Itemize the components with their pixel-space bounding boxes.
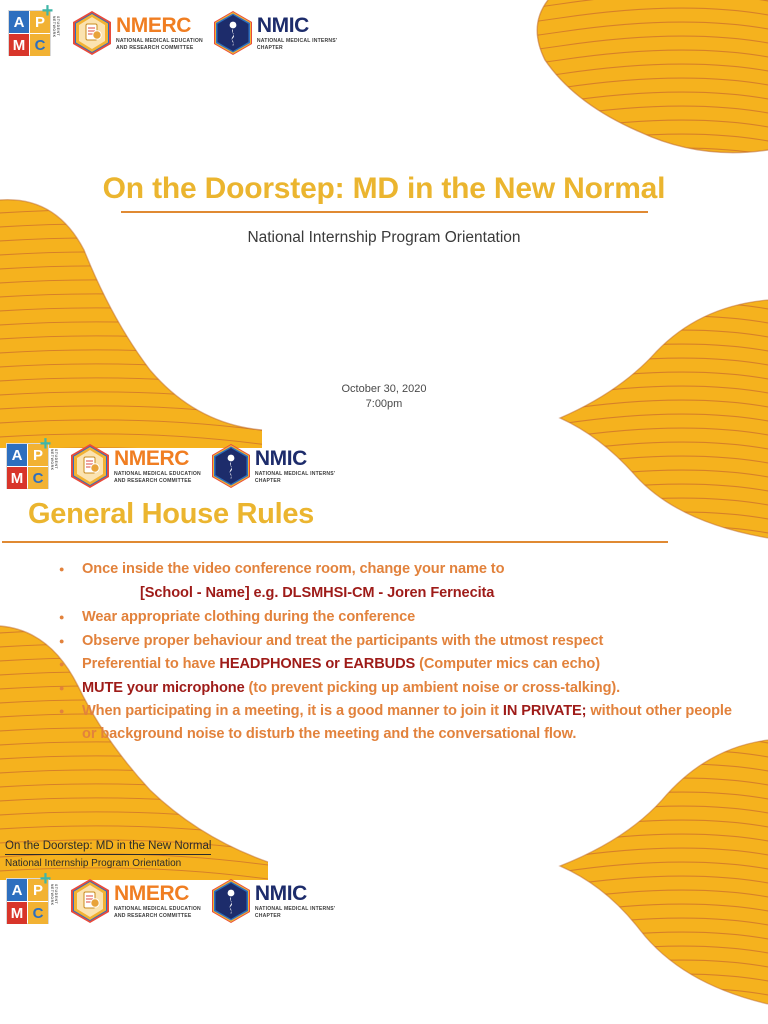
nmic-wordmark: NMIC NATIONAL MEDICAL INTERNS' CHAPTER xyxy=(255,883,335,920)
nmerc-subtitle-line2: AND RESEARCH COMMITTEE xyxy=(114,913,201,920)
caduceus-badge-icon xyxy=(212,10,254,56)
rule-text-1: Once inside the video conference room, c… xyxy=(82,561,504,577)
nmerc-logo: NMERC NATIONAL MEDICAL EDUCATION AND RES… xyxy=(69,443,201,489)
nmic-logo: NMIC NATIONAL MEDICAL INTERNS' CHAPTER xyxy=(212,10,337,56)
nmerc-wordmark: NMERC NATIONAL MEDICAL EDUCATION AND RES… xyxy=(114,448,201,485)
nmerc-logo: NMERC NATIONAL MEDICAL EDUCATION AND RES… xyxy=(71,10,203,56)
apmc-letter-a: A xyxy=(7,879,27,901)
rule-text-1-example: [School - Name] e.g. DLSMHSI-CM - Joren … xyxy=(140,585,494,601)
rule-text-6-emphasis: IN PRIVATE; xyxy=(503,703,587,719)
nmerc-subtitle-line1: NATIONAL MEDICAL EDUCATION xyxy=(114,906,201,913)
apmc-letter-m: M xyxy=(7,902,27,924)
apmc-logo: A P M C + STUDENT NETWORK xyxy=(8,10,62,56)
apmc-letter-a: A xyxy=(9,11,29,33)
caduceus-badge-icon xyxy=(210,443,252,489)
section-divider xyxy=(2,541,668,543)
list-item: Wear appropriate clothing during the con… xyxy=(56,606,750,629)
rule-text-4-post: (Computer mics can echo) xyxy=(415,656,600,672)
nmerc-subtitle: NATIONAL MEDICAL EDUCATION AND RESEARCH … xyxy=(116,38,203,52)
page-title: On the Doorstep: MD in the New Normal xyxy=(0,172,768,206)
nmerc-word: NMERC xyxy=(114,448,201,469)
list-item: Preferential to have HEADPHONES or EARBU… xyxy=(56,653,750,676)
footer-subtitle: National Internship Program Orientation xyxy=(5,857,211,871)
footer-title: On the Doorstep: MD in the New Normal xyxy=(5,839,211,855)
apmc-letter-c: C xyxy=(28,902,48,924)
apmc-side-text: STUDENT NETWORK xyxy=(52,16,60,54)
rule-text-2: Wear appropriate clothing during the con… xyxy=(82,609,415,625)
nmerc-word: NMERC xyxy=(116,15,203,36)
book-badge-icon xyxy=(69,443,111,489)
apmc-letter-c: C xyxy=(30,34,50,56)
apmc-letter-c: C xyxy=(28,467,48,489)
nmic-subtitle-line2: CHAPTER xyxy=(255,478,335,485)
page-subtitle: National Internship Program Orientation xyxy=(0,229,768,247)
list-item-continuation: [School - Name] e.g. DLSMHSI-CM - Joren … xyxy=(56,582,750,605)
event-datetime: October 30, 2020 7:00pm xyxy=(0,382,768,412)
apmc-letter-a: A xyxy=(7,444,27,466)
footer-caption: On the Doorstep: MD in the New Normal Na… xyxy=(5,836,211,871)
rule-text-6-pre: When participating in a meeting, it is a… xyxy=(82,703,503,719)
nmic-wordmark: NMIC NATIONAL MEDICAL INTERNS' CHAPTER xyxy=(255,448,335,485)
book-badge-icon xyxy=(69,878,111,924)
nmerc-word: NMERC xyxy=(114,883,201,904)
nmic-subtitle: NATIONAL MEDICAL INTERNS' CHAPTER xyxy=(257,38,337,52)
apmc-letter-m: M xyxy=(7,467,27,489)
nmic-subtitle-line1: NATIONAL MEDICAL INTERNS' xyxy=(255,471,335,478)
nmic-wordmark: NMIC NATIONAL MEDICAL INTERNS' CHAPTER xyxy=(257,15,337,52)
nmerc-wordmark: NMERC NATIONAL MEDICAL EDUCATION AND RES… xyxy=(116,15,203,52)
list-item: Observe proper behaviour and treat the p… xyxy=(56,630,750,653)
nmic-logo: NMIC NATIONAL MEDICAL INTERNS' CHAPTER xyxy=(210,443,335,489)
nmic-word: NMIC xyxy=(255,883,335,904)
book-badge-icon xyxy=(71,10,113,56)
wave-right-lower xyxy=(560,740,768,1004)
apmc-logo: A P M C + STUDENT NETWORK xyxy=(6,878,60,924)
wave-top-right xyxy=(537,0,768,153)
caduceus-badge-icon xyxy=(210,878,252,924)
nmic-word: NMIC xyxy=(255,448,335,469)
rule-text-5-post: (to prevent picking up ambient noise or … xyxy=(245,680,621,696)
slide-page: A P M C + STUDENT NETWORK xyxy=(0,0,768,1024)
rule-text-5-emphasis: MUTE your microphone xyxy=(82,680,245,696)
nmerc-logo: NMERC NATIONAL MEDICAL EDUCATION AND RES… xyxy=(69,878,201,924)
apmc-letter-m: M xyxy=(9,34,29,56)
nmerc-subtitle: NATIONAL MEDICAL EDUCATION AND RESEARCH … xyxy=(114,471,201,485)
rule-text-3: Observe proper behaviour and treat the p… xyxy=(82,633,603,649)
event-time: 7:00pm xyxy=(0,397,768,412)
logo-strip-top: A P M C + STUDENT NETWORK xyxy=(8,10,337,56)
rule-text-4-pre: Preferential to have xyxy=(82,656,219,672)
nmerc-wordmark: NMERC NATIONAL MEDICAL EDUCATION AND RES… xyxy=(114,883,201,920)
logo-strip-bottom: A P M C + STUDENT NETWORK xyxy=(6,878,335,924)
nmic-subtitle-line2: CHAPTER xyxy=(257,45,337,52)
nmic-subtitle: NATIONAL MEDICAL INTERNS' CHAPTER xyxy=(255,906,335,920)
list-item: When participating in a meeting, it is a… xyxy=(56,700,750,745)
apmc-side-text: STUDENT NETWORK xyxy=(50,449,58,487)
list-item: MUTE your microphone (to prevent picking… xyxy=(56,677,750,700)
rule-text-4-emphasis: HEADPHONES or EARBUDS xyxy=(219,656,415,672)
nmic-subtitle-line1: NATIONAL MEDICAL INTERNS' xyxy=(255,906,335,913)
apmc-logo: A P M C + STUDENT NETWORK xyxy=(6,443,60,489)
nmerc-subtitle-line2: AND RESEARCH COMMITTEE xyxy=(116,45,203,52)
nmic-word: NMIC xyxy=(257,15,337,36)
list-item: Once inside the video conference room, c… xyxy=(56,558,750,581)
nmic-subtitle: NATIONAL MEDICAL INTERNS' CHAPTER xyxy=(255,471,335,485)
nmic-subtitle-line1: NATIONAL MEDICAL INTERNS' xyxy=(257,38,337,45)
logo-strip-middle: A P M C + STUDENT NETWORK xyxy=(6,443,335,489)
title-divider xyxy=(121,211,648,213)
nmerc-subtitle-line1: NATIONAL MEDICAL EDUCATION xyxy=(116,38,203,45)
apmc-side-text: STUDENT NETWORK xyxy=(50,884,58,922)
nmerc-subtitle-line2: AND RESEARCH COMMITTEE xyxy=(114,478,201,485)
event-date: October 30, 2020 xyxy=(0,382,768,397)
wave-right-middle xyxy=(560,300,768,538)
nmerc-subtitle-line1: NATIONAL MEDICAL EDUCATION xyxy=(114,471,201,478)
nmic-subtitle-line2: CHAPTER xyxy=(255,913,335,920)
house-rules-list: Once inside the video conference room, c… xyxy=(56,558,750,746)
nmerc-subtitle: NATIONAL MEDICAL EDUCATION AND RESEARCH … xyxy=(114,906,201,920)
section-heading-house-rules: General House Rules xyxy=(28,498,314,531)
nmic-logo: NMIC NATIONAL MEDICAL INTERNS' CHAPTER xyxy=(210,878,335,924)
